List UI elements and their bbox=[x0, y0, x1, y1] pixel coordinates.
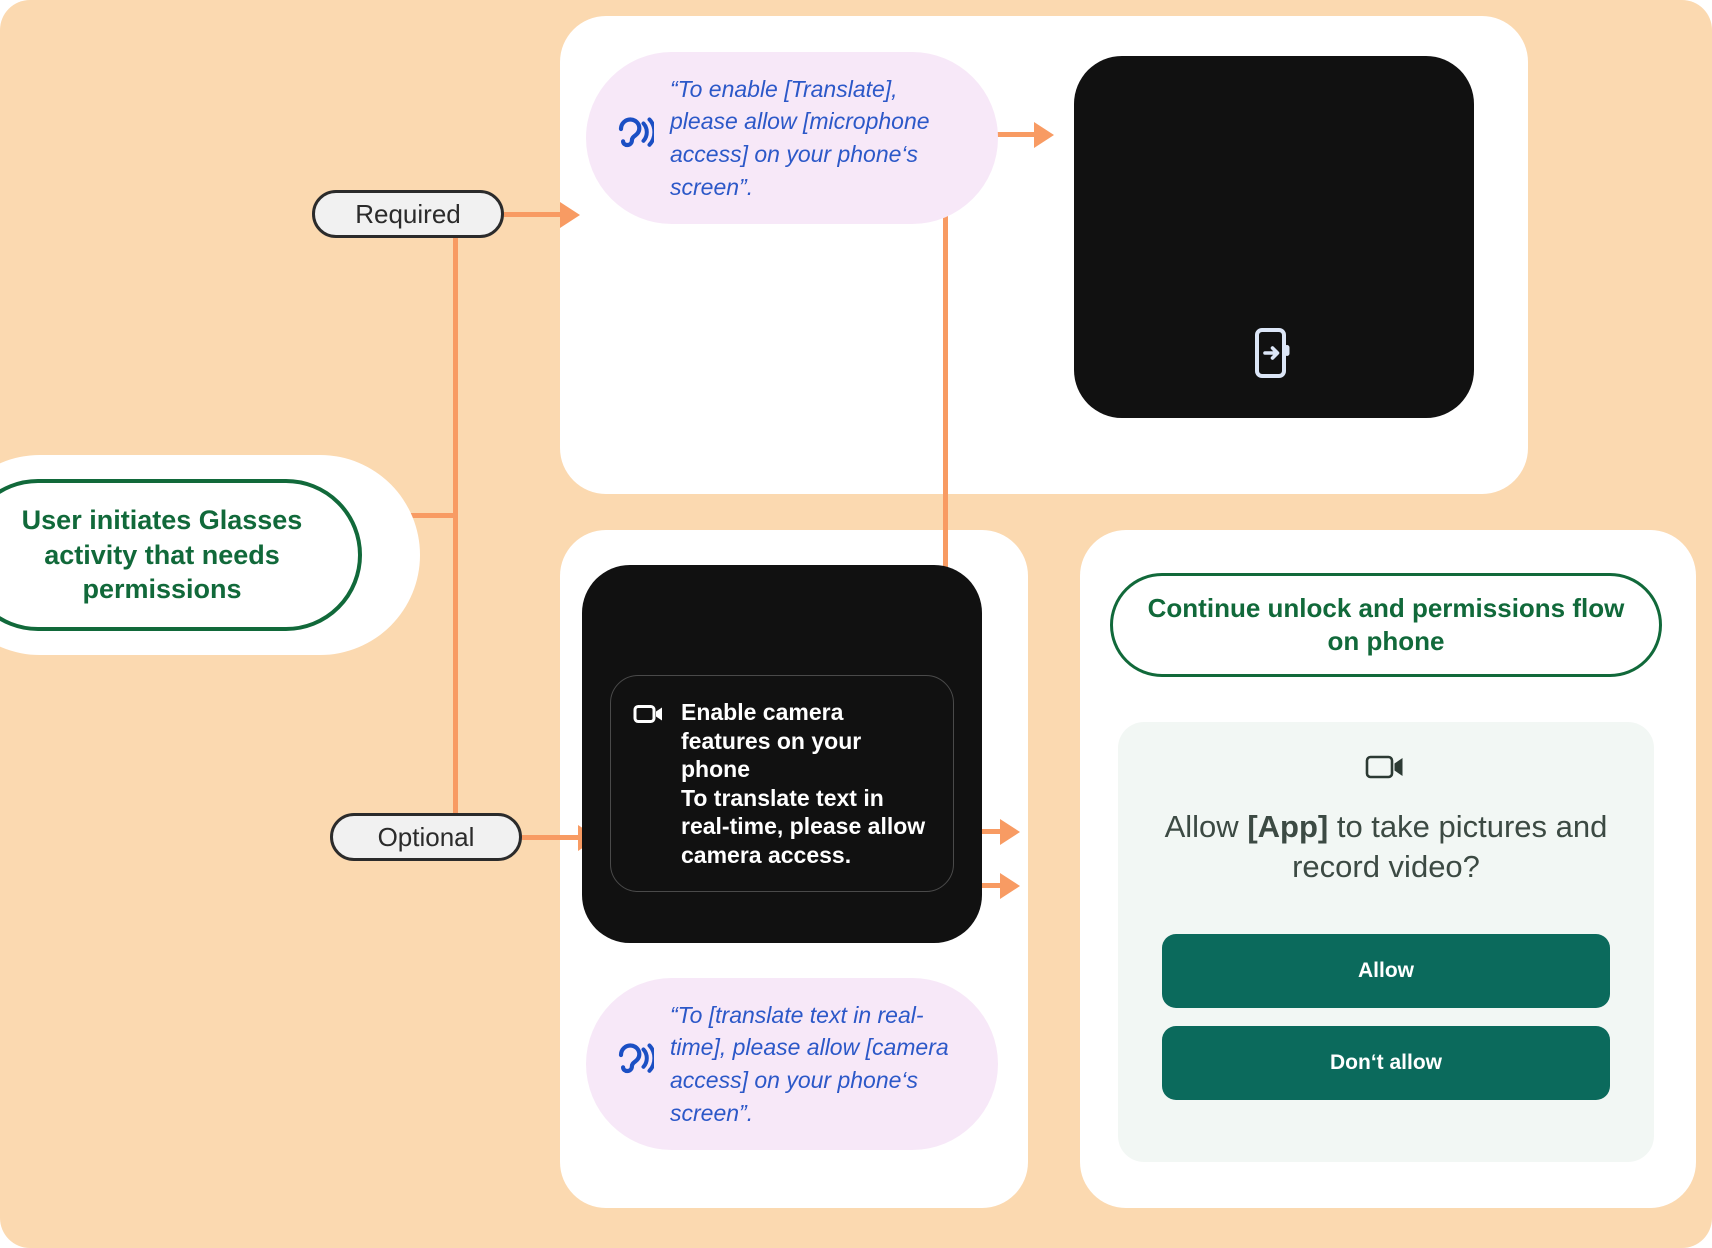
phone-unlock-icon-wrap bbox=[1074, 327, 1474, 384]
connector-required-to-bubble bbox=[504, 212, 566, 217]
arrowhead-dialog-lower bbox=[1000, 873, 1020, 899]
entry-node-backdrop: User initiates Glasses activity that nee… bbox=[0, 455, 420, 655]
branch-pill-required-label: Required bbox=[355, 199, 461, 230]
permission-dialog-app-name: [App] bbox=[1247, 809, 1328, 844]
connector-branch-trunk bbox=[453, 214, 458, 836]
glasses-camera-notification: Enable camera features on your phone To … bbox=[610, 675, 954, 892]
continue-flow-node[interactable]: Continue unlock and permissions flow on … bbox=[1110, 573, 1662, 677]
dont-allow-button[interactable]: Don‘t allow bbox=[1162, 1026, 1610, 1100]
glasses-camera-screen: Enable camera features on your phone To … bbox=[582, 565, 982, 943]
glasses-lock-screen bbox=[1074, 56, 1474, 418]
speech-bubble-microphone-text: “To enable [Translate], please allow [mi… bbox=[670, 73, 964, 204]
glasses-camera-notification-body: To translate text in real-time, please a… bbox=[681, 785, 925, 868]
arrowhead-required bbox=[560, 202, 580, 228]
connector-optional-to-glasses bbox=[522, 835, 584, 840]
glasses-camera-notification-title: Enable camera features on your phone bbox=[681, 699, 861, 782]
arrowhead-dialog-upper bbox=[1000, 819, 1020, 845]
entry-node[interactable]: User initiates Glasses activity that nee… bbox=[0, 479, 362, 631]
branch-pill-required[interactable]: Required bbox=[312, 190, 504, 238]
branch-pill-optional-label: Optional bbox=[378, 822, 475, 853]
diagram-canvas: User initiates Glasses activity that nee… bbox=[0, 0, 1712, 1248]
permission-dialog-title: Allow [App] to take pictures and record … bbox=[1150, 807, 1622, 888]
speech-bubble-camera: “To [translate text in real-time], pleas… bbox=[586, 978, 998, 1150]
entry-node-label: User initiates Glasses activity that nee… bbox=[0, 503, 330, 607]
arrowhead-lockscreen bbox=[1034, 122, 1054, 148]
ear-hearing-icon bbox=[612, 114, 654, 163]
branch-pill-optional[interactable]: Optional bbox=[330, 813, 522, 861]
permission-dialog-title-suffix: to take pictures and record video? bbox=[1292, 809, 1607, 884]
phone-unlock-icon bbox=[1254, 327, 1294, 384]
video-camera-icon bbox=[1365, 752, 1407, 787]
allow-button[interactable]: Allow bbox=[1162, 934, 1610, 1008]
speech-bubble-microphone: “To enable [Translate], please allow [mi… bbox=[586, 52, 998, 224]
permission-dialog-title-prefix: Allow bbox=[1165, 809, 1248, 844]
glasses-camera-notification-text: Enable camera features on your phone To … bbox=[681, 698, 931, 869]
speech-bubble-camera-text: “To [translate text in real-time], pleas… bbox=[670, 999, 964, 1130]
continue-flow-node-label: Continue unlock and permissions flow on … bbox=[1139, 592, 1633, 659]
video-camera-icon bbox=[633, 702, 665, 731]
permission-dialog: Allow [App] to take pictures and record … bbox=[1118, 722, 1654, 1162]
ear-hearing-icon bbox=[612, 1040, 654, 1089]
